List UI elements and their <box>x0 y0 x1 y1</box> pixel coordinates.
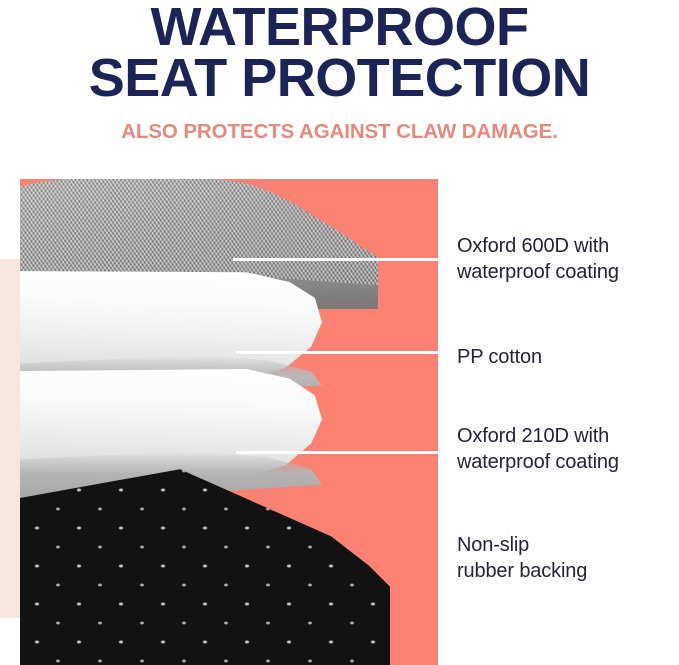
callout-label-oxford-210d: Oxford 210D with waterproof coating <box>457 423 619 476</box>
callout-connector-line-2 <box>236 351 438 354</box>
callout-line-1: Non-slip <box>457 532 587 558</box>
callout-line-1: PP cotton <box>457 344 542 370</box>
callout-connector-line-3 <box>236 451 438 454</box>
page-subtitle: ALSO PROTECTS AGAINST CLAW DAMAGE. <box>0 120 679 144</box>
callout-label-oxford-600d: Oxford 600D with waterproof coating <box>457 233 619 286</box>
callout-line-1: Oxford 600D with <box>457 233 619 259</box>
page-title-line-2: SEAT PROTECTION <box>0 53 679 104</box>
callout-label-group: Oxford 600D with waterproof coating PP c… <box>457 179 679 665</box>
callout-line-2: waterproof coating <box>457 259 619 285</box>
layer-rubber-dots-secondary <box>20 465 390 665</box>
callout-line-1: Oxford 210D with <box>457 423 619 449</box>
callout-label-rubber-backing: Non-slip rubber backing <box>457 532 587 585</box>
callout-label-pp-cotton: PP cotton <box>457 344 542 370</box>
callout-line-2: waterproof coating <box>457 449 619 475</box>
page-title-line-1: WATERPROOF <box>0 2 679 53</box>
callout-line-2: rubber backing <box>457 558 587 584</box>
header-banner: WATERPROOF SEAT PROTECTION ALSO PROTECTS… <box>0 0 679 175</box>
layer-diagram-panel <box>20 179 438 665</box>
callout-connector-line-1 <box>233 258 438 261</box>
